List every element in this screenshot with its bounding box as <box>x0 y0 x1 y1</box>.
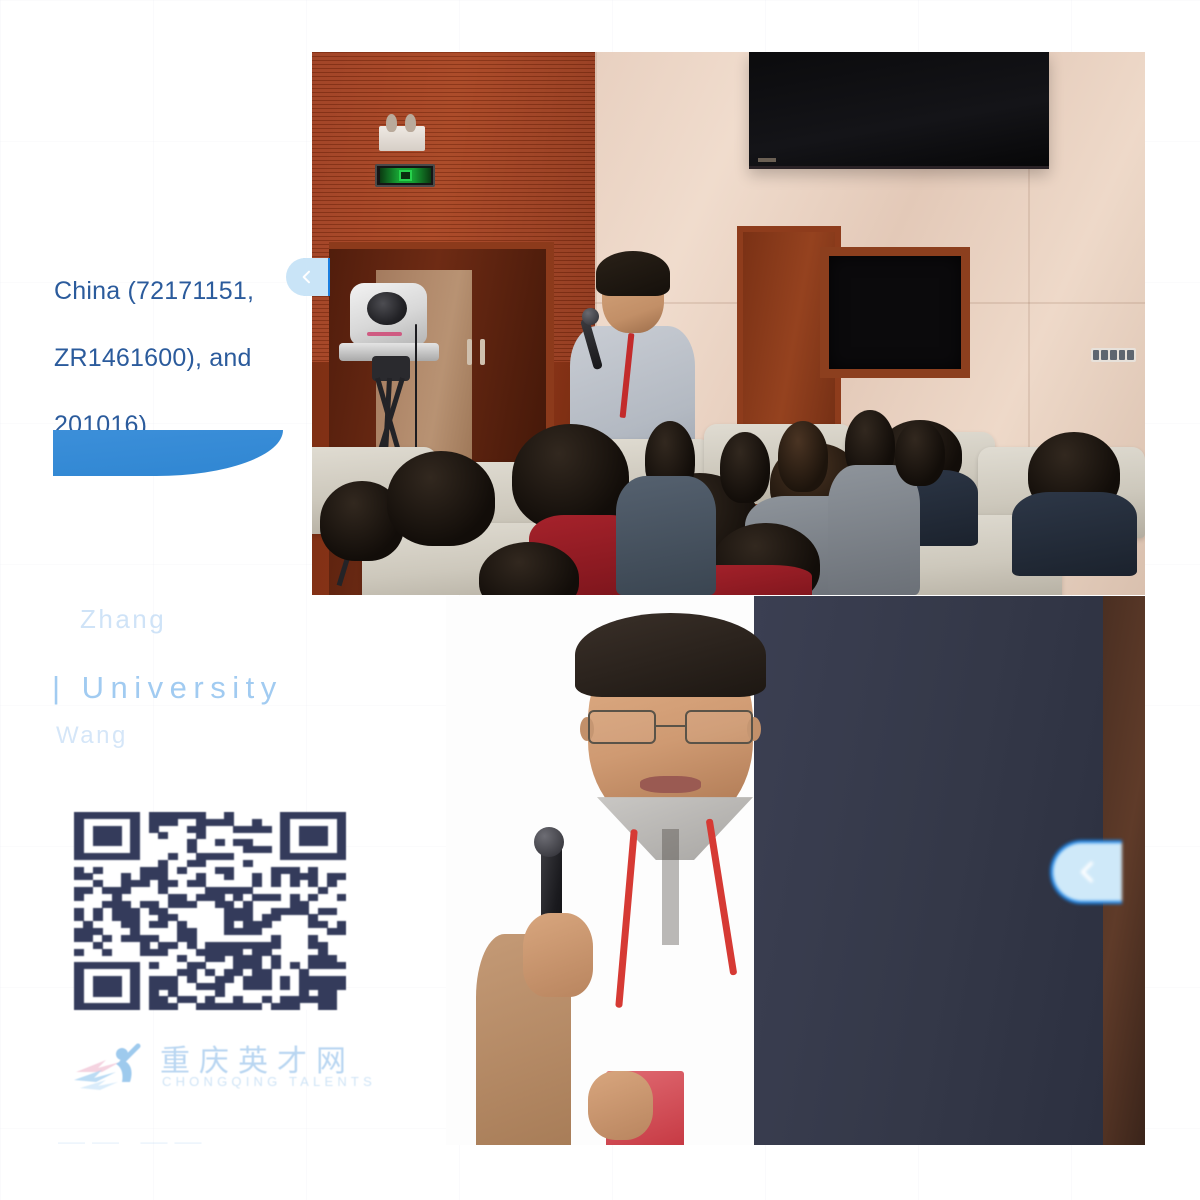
prev-slide-tab-small[interactable] <box>286 258 328 296</box>
camera-lens <box>367 292 407 326</box>
wall-mounted-tv <box>749 52 1049 169</box>
glasses-lens-right <box>685 710 753 744</box>
speaker-hair <box>596 251 670 296</box>
camera-accent-strip <box>367 332 402 336</box>
conference-room-photo[interactable] <box>312 52 1145 595</box>
audience-torso <box>828 465 920 595</box>
acknowledgement-line-1: China (72171151, <box>54 258 314 325</box>
faded-author-zhang: Zhang <box>80 604 166 635</box>
qr-code[interactable] <box>74 812 346 1010</box>
emergency-light-bulb <box>405 114 416 132</box>
faded-affiliation: | University <box>52 670 283 706</box>
portrait-mouth <box>640 776 701 793</box>
audience-torso <box>616 476 716 595</box>
door-handle <box>467 339 472 365</box>
faded-footer-text: —— —— <box>58 1126 209 1157</box>
tv-brand-logo <box>758 158 776 162</box>
audience-head <box>720 432 770 503</box>
screenshot-root: China (72171151, ZR1461600), and 201016)… <box>0 0 1200 1200</box>
portrait-hand-holding-mic <box>523 913 592 997</box>
logo-english-name: CHONGQING TALENTS <box>162 1074 376 1089</box>
acknowledgement-line-2: ZR1461600), and <box>54 325 314 392</box>
exit-sign-panel <box>380 168 431 182</box>
exit-sign <box>375 164 435 187</box>
audience-head <box>895 421 945 486</box>
glasses-lens-left <box>588 710 656 744</box>
glasses-bridge <box>656 725 686 728</box>
acknowledgement-text: China (72171151, ZR1461600), and 201016)… <box>54 258 314 459</box>
portrait-person <box>467 618 900 1145</box>
audience-area <box>312 405 1145 595</box>
audience-head <box>387 451 495 546</box>
portrait-glasses <box>588 710 753 744</box>
wall-power-sockets <box>1091 348 1136 362</box>
portrait-microphone-head <box>534 827 564 857</box>
emergency-light-fixture <box>379 126 426 151</box>
portrait-shirt-placket <box>662 829 679 945</box>
audience-head <box>778 421 828 492</box>
talents-logo-mark <box>72 1038 146 1098</box>
portrait-second-hand <box>588 1071 653 1140</box>
door-handle <box>480 339 485 365</box>
prev-slide-tab-large[interactable] <box>1050 840 1122 904</box>
speaker-portrait-photo[interactable] <box>446 596 1145 1145</box>
audience-torso <box>1012 492 1137 576</box>
wooden-framed-panel <box>820 247 970 377</box>
chevron-left-icon <box>299 269 315 285</box>
faded-author-wang: Wang <box>56 722 128 750</box>
portrait-hair <box>575 613 766 697</box>
chongqing-talents-logo: 重庆英才网 CHONGQING TALENTS <box>72 1036 372 1102</box>
exit-running-man-icon <box>399 170 412 181</box>
microphone-head <box>582 308 599 325</box>
chevron-left-icon <box>1075 859 1101 885</box>
emergency-light-bulb <box>386 114 397 132</box>
